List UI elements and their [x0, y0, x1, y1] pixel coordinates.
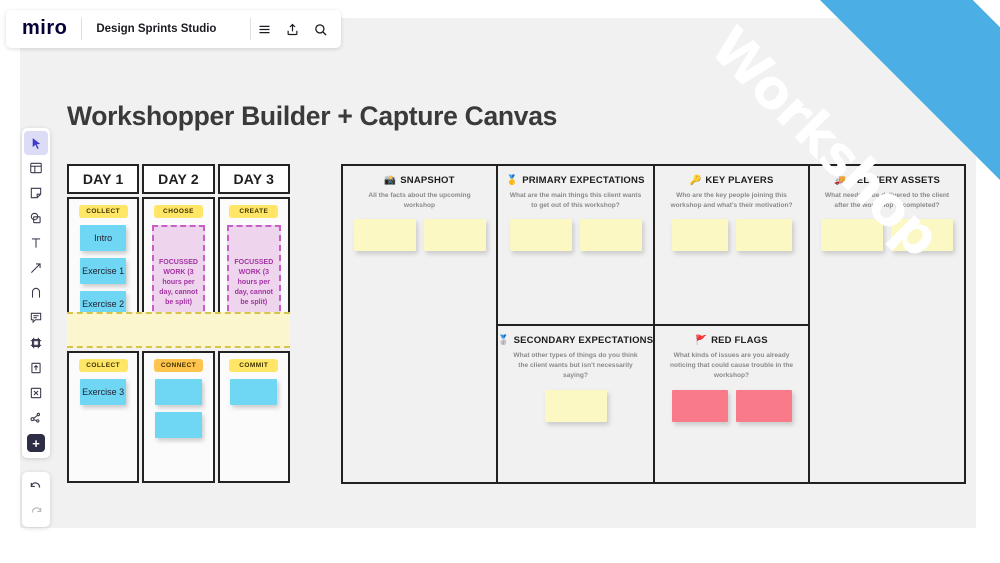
day-body-bottom-3[interactable]: COMMIT — [218, 351, 290, 483]
app-root: Workshopper Builder + Capture Canvas DAY… — [0, 0, 1000, 563]
left-toolbar: + — [22, 128, 50, 458]
sticky-note[interactable] — [424, 219, 486, 251]
note-group — [506, 390, 645, 422]
panel-red-flags[interactable]: 🚩 RED FLAGS What kinds of issues are you… — [655, 326, 808, 482]
sticky-note[interactable]: Intro — [80, 225, 127, 251]
topbar-actions — [251, 16, 337, 42]
frame-icon[interactable] — [24, 331, 48, 355]
note-group — [506, 219, 645, 251]
panel-subtitle: What needs to be delivered to the client… — [821, 191, 953, 211]
undo-icon[interactable] — [24, 475, 48, 499]
cursor-icon[interactable] — [24, 131, 48, 155]
day-header-1: DAY 1 — [67, 164, 139, 194]
panel-title: KEY PLAYERS — [705, 175, 773, 186]
lunch-break-band[interactable] — [67, 312, 290, 348]
panel-subtitle: What kinds of issues are you already not… — [666, 351, 798, 382]
phase-tag-create-day3[interactable]: CREATE — [229, 205, 278, 218]
capture-canvas-grid: 📸 SNAPSHOT All the facts about the upcom… — [341, 164, 966, 484]
sticky-note[interactable] — [545, 390, 607, 422]
note-group — [663, 219, 800, 251]
sticky-note[interactable] — [354, 219, 416, 251]
red-flag-icon: 🚩 — [695, 336, 707, 346]
day-body-bottom-1[interactable]: COLLECT Exercise 3 — [67, 351, 139, 483]
comment-icon[interactable] — [24, 306, 48, 330]
sticky-note[interactable] — [510, 219, 572, 251]
medal-icon: 🥇 — [506, 176, 518, 186]
capture-column-1: 📸 SNAPSHOT All the facts about the upcom… — [343, 166, 498, 482]
templates-icon[interactable] — [24, 156, 48, 180]
search-icon[interactable] — [307, 16, 333, 42]
sticky-note[interactable] — [155, 412, 202, 438]
day-header-2: DAY 2 — [142, 164, 214, 194]
panel-key-players[interactable]: 🔑 KEY PLAYERS Who are the key people joi… — [655, 166, 808, 326]
plus-icon[interactable]: + — [24, 431, 48, 455]
panel-header: 📸 SNAPSHOT — [384, 175, 454, 186]
panel-secondary-expectations[interactable]: 🥈 SECONDARY EXPECTATIONS What other type… — [498, 326, 653, 482]
phase-tag-collect-day1-pm[interactable]: COLLECT — [79, 359, 128, 372]
share-icon[interactable] — [279, 16, 305, 42]
sticky-note[interactable] — [580, 219, 642, 251]
redo-icon[interactable] — [24, 500, 48, 524]
panel-header: 🥈 SECONDARY EXPECTATIONS — [498, 335, 654, 346]
truck-icon: 🚚 — [834, 176, 846, 186]
sticky-note[interactable] — [736, 219, 792, 251]
phase-tag-connect-day2[interactable]: CONNECT — [154, 359, 203, 372]
day-body-bottom-2[interactable]: CONNECT — [142, 351, 214, 483]
sticky-note-icon[interactable] — [24, 181, 48, 205]
panel-delivery-assets[interactable]: 🚚 DELIVERY ASSETS What needs to be deliv… — [810, 166, 964, 482]
page-title: Workshopper Builder + Capture Canvas — [67, 101, 557, 132]
panel-subtitle: What are the main things this client wan… — [510, 191, 642, 211]
text-icon[interactable] — [24, 231, 48, 255]
panel-primary-expectations[interactable]: 🥇 PRIMARY EXPECTATIONS What are the main… — [498, 166, 653, 326]
top-toolbar: miro Design Sprints Studio — [6, 10, 341, 48]
sticky-note[interactable] — [672, 390, 728, 422]
panel-title: SECONDARY EXPECTATIONS — [514, 335, 654, 346]
note-group — [351, 219, 488, 251]
panel-header: 🥇 PRIMARY EXPECTATIONS — [506, 175, 644, 186]
panel-header: 🔑 KEY PLAYERS — [689, 175, 773, 186]
apps-icon[interactable] — [24, 381, 48, 405]
capture-column-3: 🔑 KEY PLAYERS Who are the key people joi… — [655, 166, 810, 482]
phase-tag-collect-day1[interactable]: COLLECT — [79, 205, 128, 218]
sticky-note[interactable] — [736, 390, 792, 422]
panel-snapshot[interactable]: 📸 SNAPSHOT All the facts about the upcom… — [343, 166, 496, 482]
sticky-note[interactable] — [230, 379, 277, 405]
note-group — [663, 390, 800, 422]
phase-tag-commit-day3[interactable]: COMMIT — [229, 359, 278, 372]
focussed-work-label: FOCUSSED WORK (3 hours per day, cannot b… — [158, 258, 200, 309]
panel-header: 🚚 DELIVERY ASSETS — [834, 175, 940, 186]
sticky-note[interactable]: Exercise 3 — [80, 379, 127, 405]
shapes-icon[interactable] — [24, 206, 48, 230]
marker-icon[interactable] — [24, 281, 48, 305]
sticky-note[interactable] — [821, 219, 883, 251]
camera-icon: 📸 — [384, 176, 396, 186]
phase-tag-choose-day2[interactable]: CHOOSE — [154, 205, 203, 218]
note-group — [818, 219, 956, 251]
workshopper-builder-grid: DAY 1 COLLECT Intro Exercise 1 Exercise … — [67, 164, 290, 483]
menu-icon[interactable] — [251, 16, 277, 42]
panel-title: DELIVERY ASSETS — [850, 175, 940, 186]
day-header-3: DAY 3 — [218, 164, 290, 194]
sticky-note[interactable]: Exercise 1 — [80, 258, 127, 284]
panel-title: SNAPSHOT — [400, 175, 454, 186]
key-icon: 🔑 — [689, 176, 701, 186]
board-title[interactable]: Design Sprints Studio — [82, 23, 250, 35]
capture-column-4: 🚚 DELIVERY ASSETS What needs to be deliv… — [810, 166, 964, 482]
panel-subtitle: All the facts about the upcoming worksho… — [354, 191, 486, 211]
pen-arrow-icon[interactable] — [24, 256, 48, 280]
panel-subtitle: What other types of things do you think … — [510, 351, 642, 382]
sticky-note[interactable] — [891, 219, 953, 251]
medal-icon: 🥈 — [498, 336, 510, 346]
upload-icon[interactable] — [24, 356, 48, 380]
focussed-work-label: FOCUSSED WORK (3 hours per day, cannot b… — [233, 258, 275, 309]
connector-icon[interactable] — [24, 406, 48, 430]
sticky-note[interactable] — [155, 379, 202, 405]
capture-column-2: 🥇 PRIMARY EXPECTATIONS What are the main… — [498, 166, 655, 482]
panel-header: 🚩 RED FLAGS — [695, 335, 768, 346]
panel-title: PRIMARY EXPECTATIONS — [522, 175, 644, 186]
history-toolbar — [22, 472, 50, 527]
sticky-note[interactable] — [672, 219, 728, 251]
miro-logo[interactable]: miro — [10, 17, 81, 42]
panel-title: RED FLAGS — [711, 335, 768, 346]
panel-subtitle: Who are the key people joining this work… — [666, 191, 798, 211]
